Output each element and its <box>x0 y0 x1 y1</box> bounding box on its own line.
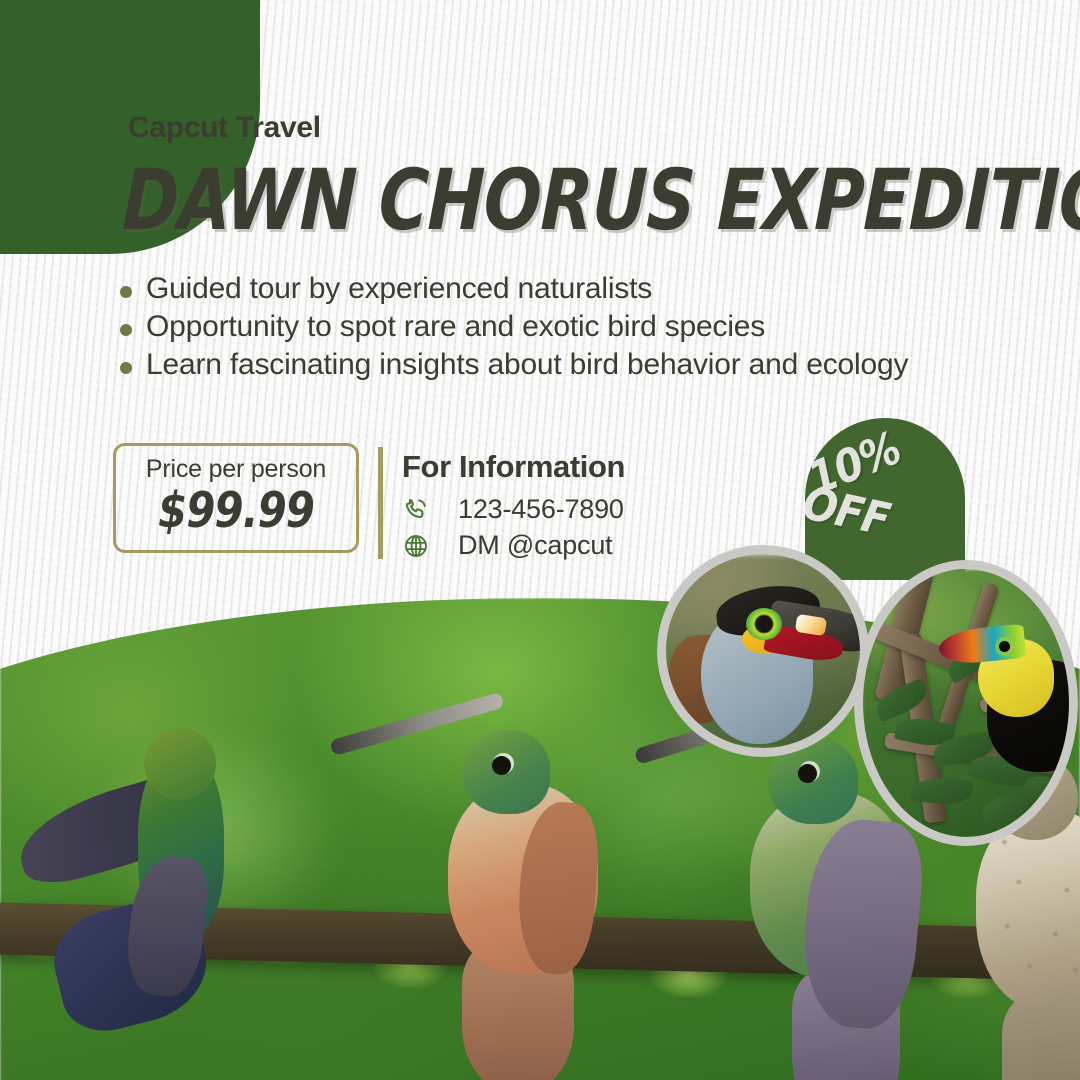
phone-number: 123-456-7890 <box>458 494 624 525</box>
poster-canvas: Capcut Travel DAWN CHORUS EXPEDITION Gui… <box>0 0 1080 1080</box>
price-label: Price per person <box>116 455 356 484</box>
circle-photo-toucan-tree <box>854 560 1078 846</box>
discount-off-label: OFF <box>805 480 865 517</box>
circle-photo-toucanet <box>657 545 869 757</box>
brand-name: Capcut Travel <box>128 111 321 145</box>
contact-row-social[interactable]: DM @capcut <box>402 528 625 563</box>
hummingbird-wings-spread <box>20 710 320 1040</box>
toucan-tree-scene <box>863 569 1069 837</box>
list-item: Opportunity to spot rare and exotic bird… <box>116 308 916 346</box>
contact-info-title: For Information <box>402 449 625 485</box>
price-box: Price per person $99.99 <box>113 443 359 553</box>
page-title: DAWN CHORUS EXPEDITION <box>122 162 880 239</box>
feature-list: Guided tour by experienced naturalists O… <box>116 270 916 384</box>
toucanet-scene <box>666 554 860 748</box>
contact-row-phone[interactable]: 123-456-7890 <box>402 492 625 527</box>
hummingbird-rufous <box>400 706 700 1066</box>
vertical-divider <box>378 447 383 559</box>
social-handle: DM @capcut <box>458 530 612 561</box>
contact-info-block: For Information 123-456-7890 DM @capcut <box>402 449 625 564</box>
phone-icon <box>402 496 430 524</box>
list-item: Guided tour by experienced naturalists <box>116 270 916 308</box>
price-value: $99.99 <box>122 482 350 539</box>
globe-icon <box>402 532 430 560</box>
list-item: Learn fascinating insights about bird be… <box>116 346 916 384</box>
